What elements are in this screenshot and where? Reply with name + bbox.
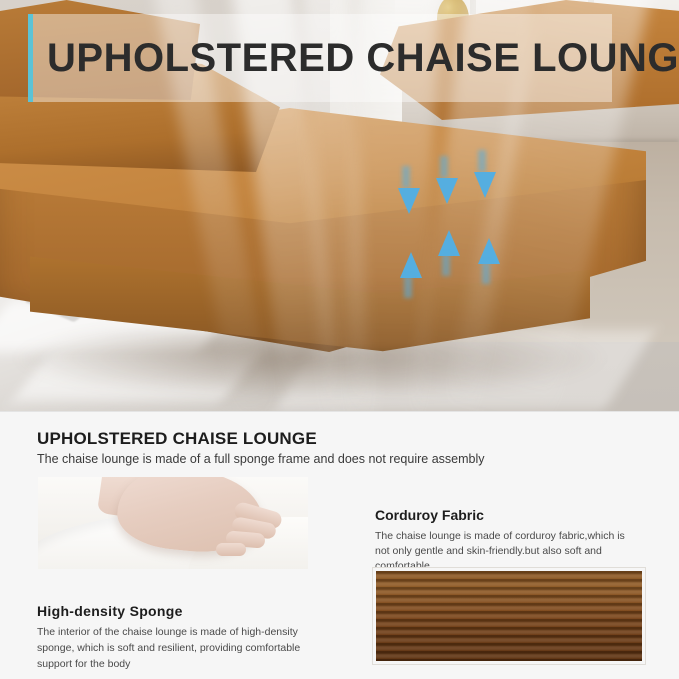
section-subtitle: The chaise lounge is made of a full spon…	[37, 452, 485, 466]
hero-image: UPHOLSTERED CHAISE LOUNGE	[0, 0, 679, 411]
airflow-down-arrow-icon	[436, 178, 458, 204]
feature-body-high-density-sponge: The interior of the chaise lounge is mad…	[37, 625, 319, 672]
hero-title-banner: UPHOLSTERED CHAISE LOUNGE	[28, 14, 612, 102]
airflow-down-arrow-icon	[398, 188, 420, 214]
arrow-up-tail	[482, 262, 490, 284]
airflow-up-arrow-icon	[438, 230, 460, 256]
arrow-down-tail	[478, 150, 486, 172]
feature-title-corduroy-fabric: Corduroy Fabric	[375, 507, 484, 523]
airflow-up-arrow-icon	[478, 238, 500, 264]
features-section: UPHOLSTERED CHAISE LOUNGE The chaise lou…	[0, 411, 679, 679]
corduroy-feature-image	[373, 568, 645, 664]
arrow-down-tail	[440, 156, 448, 178]
section-title: UPHOLSTERED CHAISE LOUNGE	[37, 429, 317, 449]
arrow-up-tail	[442, 254, 450, 276]
product-infographic-page: UPHOLSTERED CHAISE LOUNGE UPHOLSTERED CH…	[0, 0, 679, 679]
airflow-down-arrow-icon	[474, 172, 496, 198]
finger	[216, 543, 246, 556]
arrow-down-tail	[402, 166, 410, 188]
hero-title: UPHOLSTERED CHAISE LOUNGE	[47, 36, 679, 81]
arrow-up-tail	[404, 276, 412, 298]
sponge-feature-image	[38, 477, 308, 569]
feature-title-high-density-sponge: High-density Sponge	[37, 603, 183, 619]
airflow-up-arrow-icon	[400, 252, 422, 278]
